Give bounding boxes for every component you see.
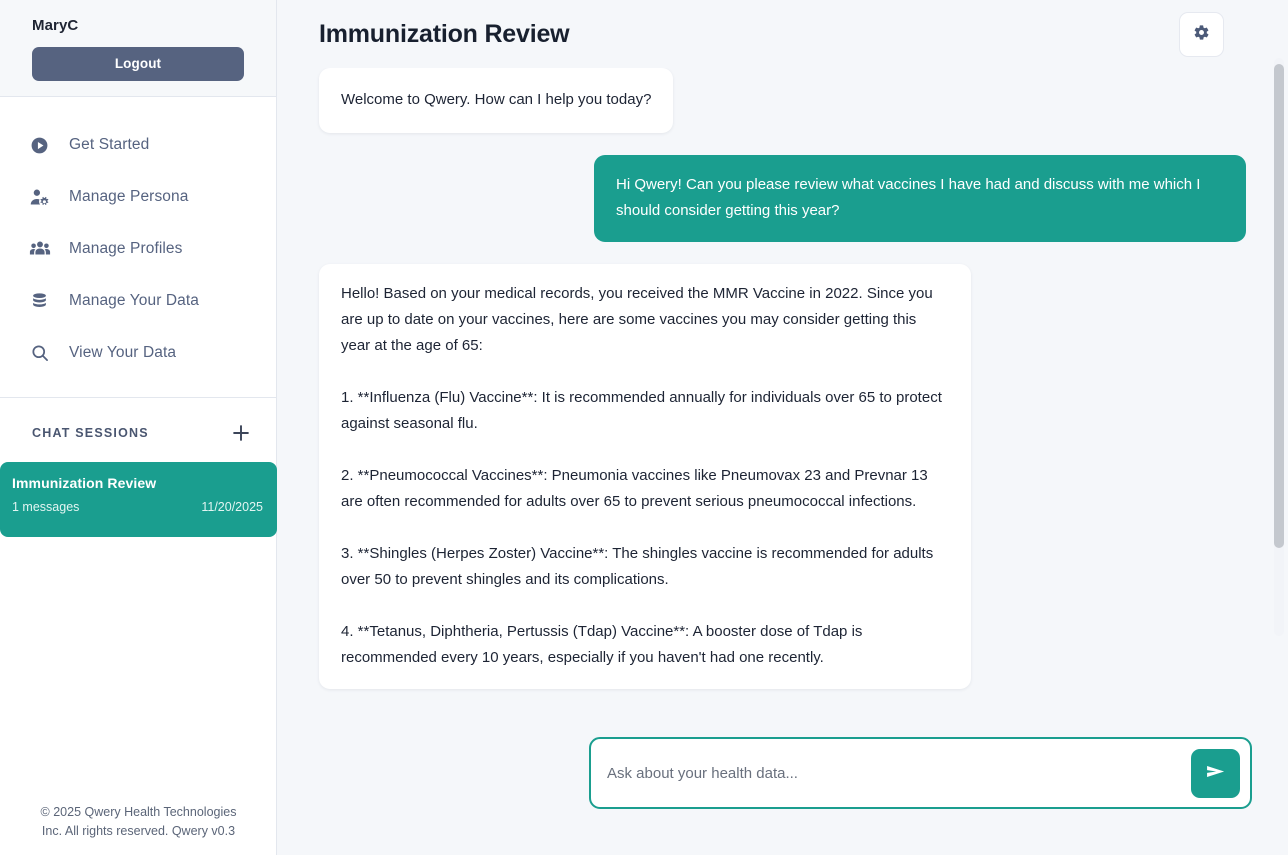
send-icon	[1204, 760, 1227, 786]
sidebar-item-label: View Your Data	[69, 344, 176, 362]
chat-scrollbar-track[interactable]	[1274, 58, 1284, 636]
sidebar-item-manage-persona[interactable]: Manage Persona	[0, 171, 276, 223]
logout-button[interactable]: Logout	[32, 47, 244, 81]
settings-button[interactable]	[1179, 12, 1224, 57]
sidebar-item-view-your-data[interactable]: View Your Data	[0, 327, 276, 379]
message-paragraph: 4. **Tetanus, Diphtheria, Pertussis (Tda…	[341, 619, 949, 671]
session-message-count: 1 messages	[12, 500, 79, 514]
gear-icon	[1193, 24, 1210, 44]
composer[interactable]	[589, 737, 1252, 809]
assistant-message-bubble: Hello! Based on your medical records, yo…	[319, 264, 971, 689]
message-row-user: Hi Qwery! Can you please review what vac…	[319, 155, 1246, 242]
footer-copyright-line1: © 2025 Qwery Health Technologies	[24, 803, 253, 822]
session-meta: 1 messages 11/20/2025	[12, 500, 263, 514]
database-icon	[28, 290, 51, 313]
footer-copyright-line2: Inc. All rights reserved. Qwery v0.3	[24, 822, 253, 841]
session-date: 11/20/2025	[201, 500, 263, 514]
chat-sessions-header: CHAT SESSIONS	[0, 398, 276, 462]
message-row-assistant-response: Hello! Based on your medical records, yo…	[319, 264, 1246, 689]
search-icon	[28, 342, 51, 365]
message-paragraph: 2. **Pneumococcal Vaccines**: Pneumonia …	[341, 463, 949, 515]
sidebar-item-label: Get Started	[69, 136, 149, 154]
message-paragraph: 1. **Influenza (Flu) Vaccine**: It is re…	[341, 385, 949, 437]
sidebar-footer: © 2025 Qwery Health Technologies Inc. Al…	[0, 803, 277, 841]
chat-session-list: Immunization Review 1 messages 11/20/202…	[0, 462, 276, 537]
sidebar-item-label: Manage Profiles	[69, 240, 183, 258]
sidebar-item-get-started[interactable]: Get Started	[0, 119, 276, 171]
message-paragraph: 3. **Shingles (Herpes Zoster) Vaccine**:…	[341, 541, 949, 593]
chat-session-item-immunization-review[interactable]: Immunization Review 1 messages 11/20/202…	[0, 462, 277, 537]
sidebar: MaryC Logout Get Started	[0, 0, 277, 855]
chat-input[interactable]	[603, 753, 1191, 793]
sidebar-item-label: Manage Your Data	[69, 292, 199, 310]
sidebar-nav: Get Started Manage Persona	[0, 97, 276, 398]
send-button[interactable]	[1191, 749, 1240, 798]
plus-icon	[230, 432, 252, 447]
message-paragraph: Hello! Based on your medical records, yo…	[341, 281, 949, 359]
assistant-message-bubble: Welcome to Qwery. How can I help you tod…	[319, 68, 673, 133]
sidebar-item-manage-your-data[interactable]: Manage Your Data	[0, 275, 276, 327]
user-message-bubble: Hi Qwery! Can you please review what vac…	[594, 155, 1246, 242]
user-section: MaryC Logout	[0, 0, 276, 97]
new-chat-session-button[interactable]	[228, 420, 254, 446]
people-group-icon	[28, 238, 51, 261]
app-root: MaryC Logout Get Started	[0, 0, 1288, 855]
play-circle-icon	[28, 134, 51, 157]
message-row-assistant-welcome: Welcome to Qwery. How can I help you tod…	[319, 68, 1246, 133]
page-title: Immunization Review	[319, 20, 569, 49]
main-panel: Immunization Review Welcome to Qwery. Ho…	[277, 0, 1288, 855]
chat-scrollbar-thumb[interactable]	[1274, 64, 1284, 548]
session-name: Immunization Review	[12, 475, 263, 491]
user-name: MaryC	[32, 8, 244, 47]
main-header: Immunization Review	[277, 0, 1288, 68]
person-gear-icon	[28, 186, 51, 209]
chat-sessions-title: CHAT SESSIONS	[32, 426, 149, 440]
sidebar-item-label: Manage Persona	[69, 188, 188, 206]
sidebar-item-manage-profiles[interactable]: Manage Profiles	[0, 223, 276, 275]
